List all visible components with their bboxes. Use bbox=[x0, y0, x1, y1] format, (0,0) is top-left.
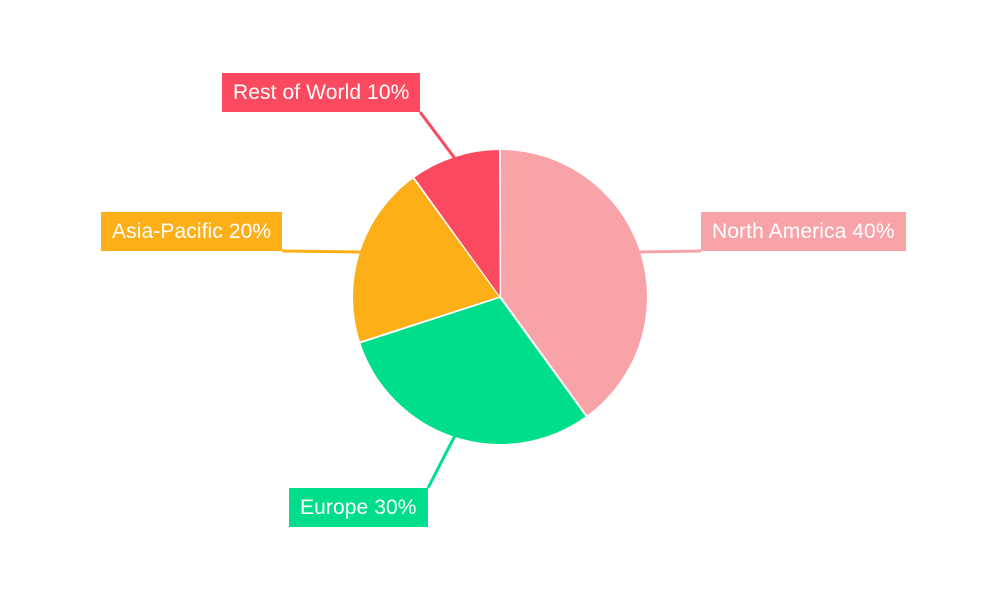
leader-line-north-america bbox=[638, 251, 701, 252]
pie-label-north-america[interactable]: North America 40% bbox=[701, 212, 906, 251]
pie-chart-canvas bbox=[0, 0, 1000, 600]
leader-line-rest-of-world bbox=[420, 112, 455, 159]
pie-label-europe[interactable]: Europe 30% bbox=[289, 488, 428, 527]
leader-line-europe bbox=[428, 435, 455, 488]
pie-chart: North America 40% Europe 30% Asia-Pacifi… bbox=[0, 0, 1000, 600]
pie-label-rest-of-world[interactable]: Rest of World 10% bbox=[222, 73, 420, 112]
pie-slice-group bbox=[353, 150, 647, 444]
pie-label-asia-pacific[interactable]: Asia-Pacific 20% bbox=[101, 212, 282, 251]
leader-line-asia-pacific bbox=[282, 251, 362, 252]
